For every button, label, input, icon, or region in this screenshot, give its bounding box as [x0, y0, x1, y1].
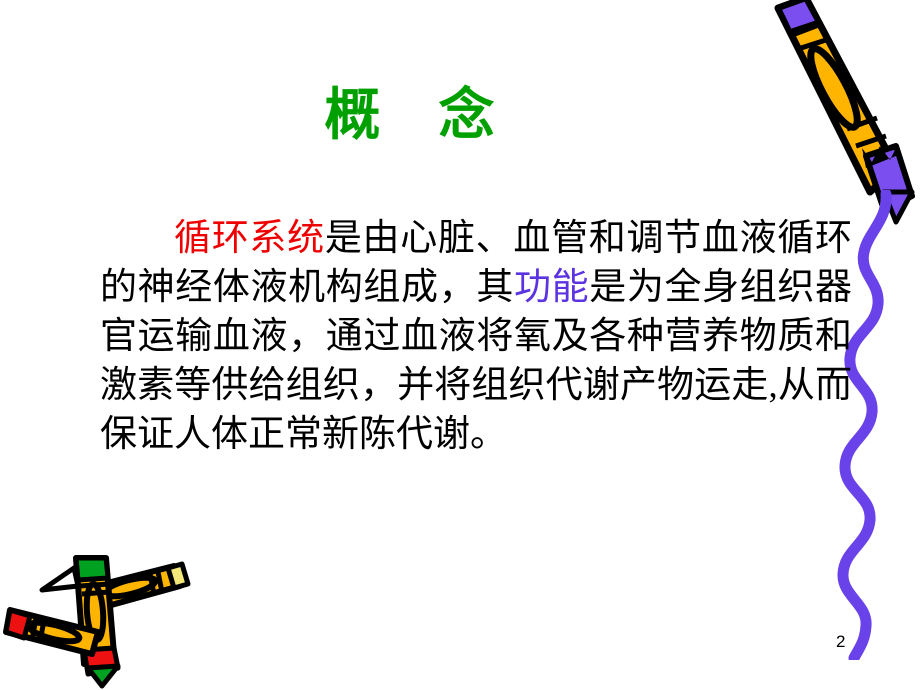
- slide-canvas: 概 念 循环系统是由心脏、血管和调节血液循环的神经体液机构组成，其功能是为全身组…: [0, 0, 920, 690]
- crayon-sharpened-wedge-icon: [42, 568, 78, 590]
- body-segment-purple: 功能: [514, 267, 589, 308]
- crayon-red-tip-icon: [6, 610, 98, 654]
- crayon-green-tip-icon: [76, 558, 118, 686]
- crayon-cluster-icon: [2, 528, 202, 690]
- page-title: 概 念: [0, 84, 820, 146]
- body-segment-red: 循环系统: [174, 218, 325, 259]
- page-number: 2: [836, 632, 845, 652]
- crayons-bottom-left-decoration: [2, 528, 202, 690]
- body-paragraph: 循环系统是由心脏、血管和调节血液循环的神经体液机构组成，其功能是为全身组织器官运…: [100, 214, 852, 459]
- crayon-yellow-tip-icon: [80, 564, 188, 612]
